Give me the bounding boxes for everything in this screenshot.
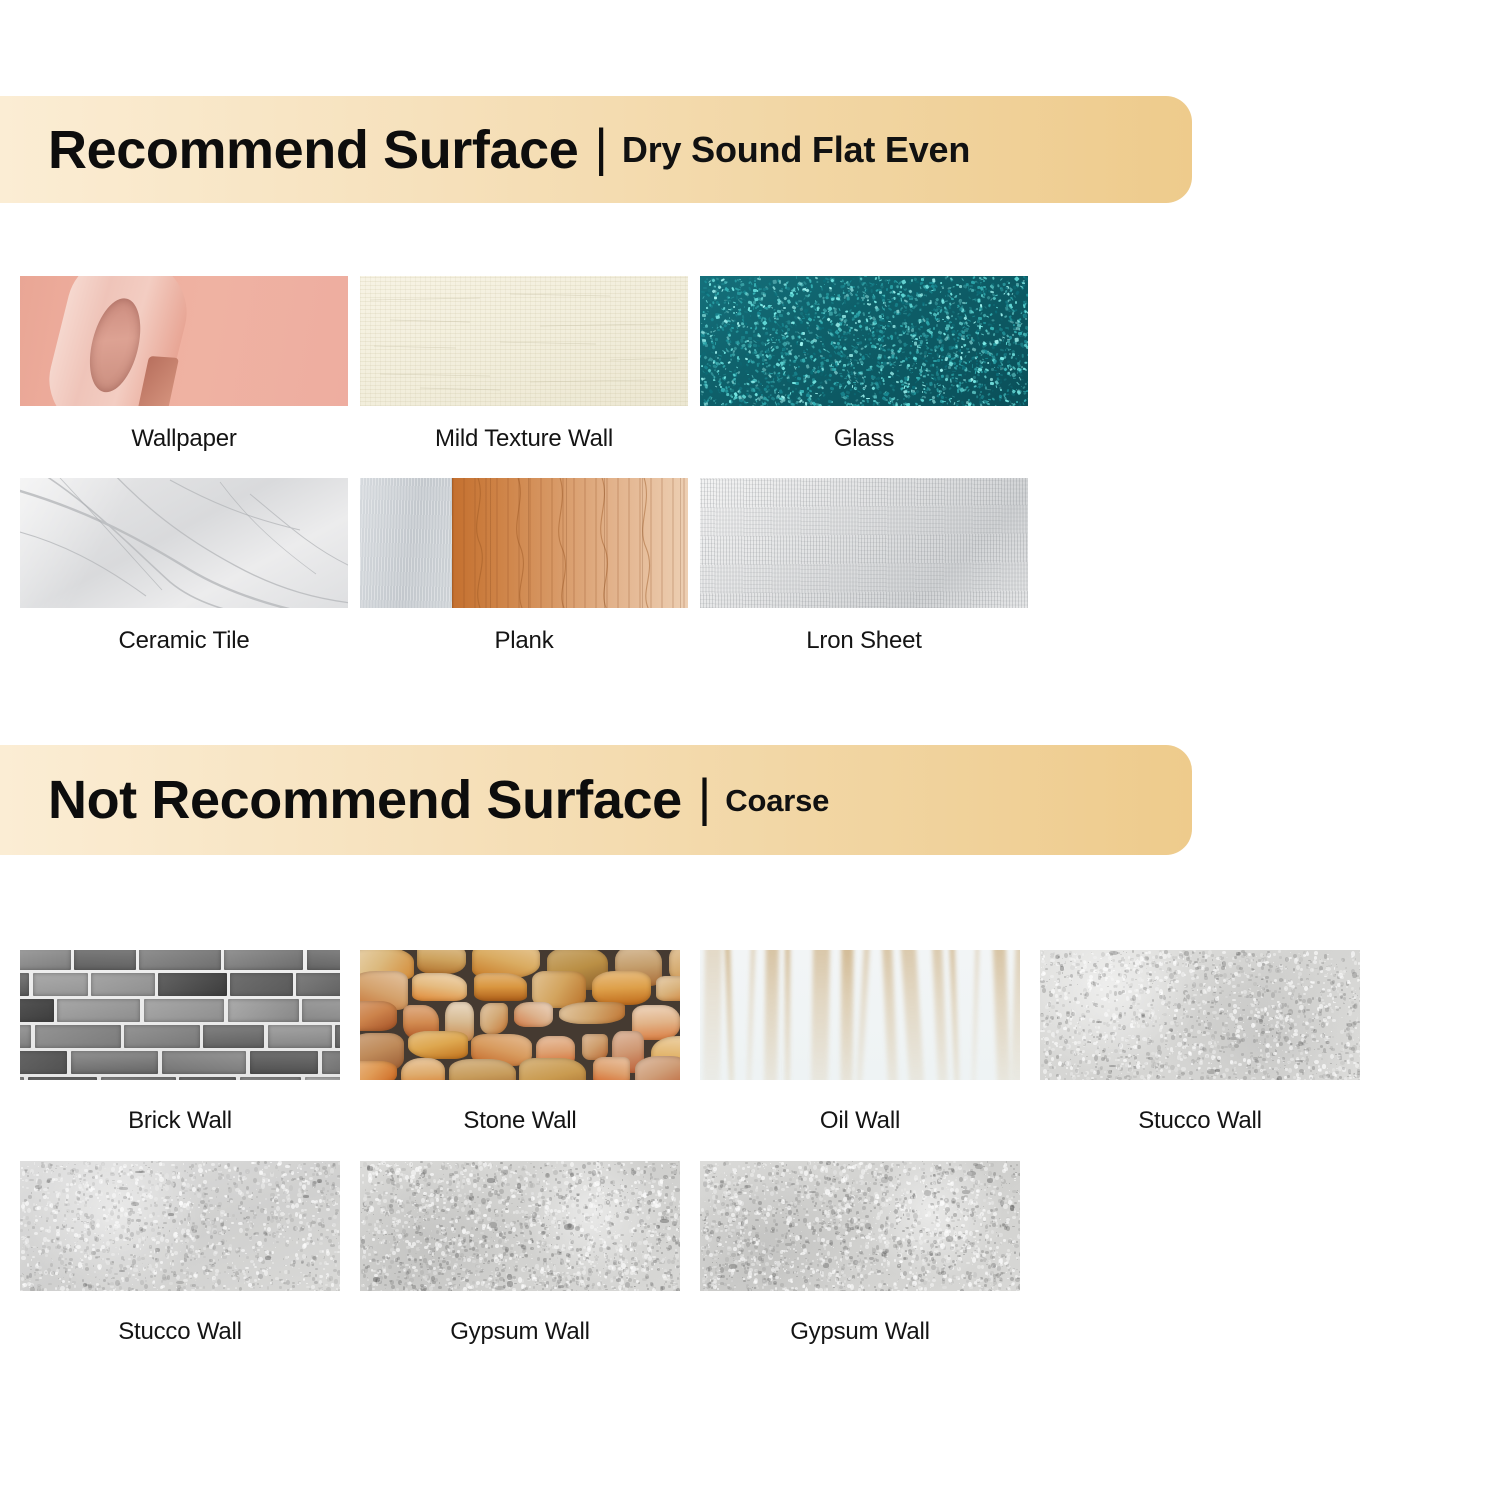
swatch-label-stone-wall: Stone Wall: [360, 1107, 680, 1135]
swatch-label-wallpaper: Wallpaper: [20, 425, 348, 453]
swatch-label-oil-wall: Oil Wall: [700, 1107, 1020, 1135]
recommend-row-1: Wallpaper Mild Texture Wall Glass: [20, 276, 1040, 453]
recommend-banner-subtitle: Dry Sound Flat Even: [622, 132, 970, 168]
recommend-row-2: Ceramic Tile Plank: [20, 478, 1040, 655]
swatch-label-iron-sheet: Lron Sheet: [700, 627, 1028, 655]
wallpaper-roll-graphic: [38, 276, 199, 406]
brick-wall-swatch: [20, 950, 340, 1080]
swatch-cell-wallpaper: Wallpaper: [20, 276, 348, 453]
recommend-banner-title: Recommend Surface: [48, 123, 578, 177]
oil-wall-swatch: [700, 950, 1020, 1080]
swatch-label-mild-texture-wall: Mild Texture Wall: [360, 425, 688, 453]
stone-blocks: [360, 950, 680, 1080]
swatch-label-stucco-wall-1: Stucco Wall: [1040, 1107, 1360, 1135]
swatch-cell-brick-wall: Brick Wall: [20, 950, 340, 1135]
stone-wall-swatch: [360, 950, 680, 1080]
mild-texture-wall-swatch: [360, 276, 688, 406]
swatch-label-gypsum-wall-2: Gypsum Wall: [700, 1318, 1020, 1346]
oil-streaks: [700, 950, 1020, 1080]
gypsum-wall-swatch: [700, 1161, 1020, 1291]
stucco-grain: [1040, 950, 1360, 1080]
swatch-cell-mild-texture-wall: Mild Texture Wall: [360, 276, 688, 453]
plank-wood-panel: [452, 478, 688, 608]
plank-swatch: [360, 478, 688, 608]
swatch-label-glass: Glass: [700, 425, 1028, 453]
swatch-cell-gypsum-wall-1: Gypsum Wall: [360, 1161, 680, 1346]
recommend-banner-separator: |: [594, 122, 608, 174]
gypsum-grain: [360, 1161, 680, 1291]
swatch-cell-stone-wall: Stone Wall: [360, 950, 680, 1135]
recommend-surface-banner: Recommend Surface | Dry Sound Flat Even: [0, 96, 1192, 203]
stucco-wall-swatch: [20, 1161, 340, 1291]
swatch-cell-oil-wall: Oil Wall: [700, 950, 1020, 1135]
swatch-label-brick-wall: Brick Wall: [20, 1107, 340, 1135]
glass-glitter-grain: [700, 276, 1028, 406]
not-recommend-banner-subtitle: Coarse: [725, 785, 829, 816]
swatch-cell-iron-sheet: Lron Sheet: [700, 478, 1028, 655]
swatch-cell-gypsum-wall-2: Gypsum Wall: [700, 1161, 1020, 1346]
swatch-cell-plank: Plank: [360, 478, 688, 655]
infographic-page: Recommend Surface | Dry Sound Flat Even …: [0, 0, 1500, 1500]
not-recommend-row-2: Stucco Wall Gypsum Wall Gypsum Wall: [20, 1161, 1040, 1346]
plank-grey-strip: [360, 478, 452, 608]
swatch-cell-stucco-wall-2: Stucco Wall: [20, 1161, 340, 1346]
swatch-label-gypsum-wall-1: Gypsum Wall: [360, 1318, 680, 1346]
not-recommend-row-1: Brick Wall Stone Wall Oil Wall Stucco Wa…: [20, 950, 1380, 1135]
not-recommend-banner-title: Not Recommend Surface: [48, 773, 682, 827]
ceramic-tile-swatch: [20, 478, 348, 608]
swatch-cell-ceramic-tile: Ceramic Tile: [20, 478, 348, 655]
not-recommend-banner-separator: |: [698, 772, 712, 824]
swatch-label-ceramic-tile: Ceramic Tile: [20, 627, 348, 655]
swatch-cell-glass: Glass: [700, 276, 1028, 453]
gypsum-wall-swatch: [360, 1161, 680, 1291]
glass-swatch: [700, 276, 1028, 406]
stucco-grain: [20, 1161, 340, 1291]
brick-courses: [20, 950, 340, 1080]
iron-sheet-swatch: [700, 478, 1028, 608]
swatch-label-stucco-wall-2: Stucco Wall: [20, 1318, 340, 1346]
swatch-cell-stucco-wall-1: Stucco Wall: [1040, 950, 1360, 1135]
not-recommend-surface-banner: Not Recommend Surface | Coarse: [0, 745, 1192, 855]
gypsum-grain: [700, 1161, 1020, 1291]
stucco-wall-swatch: [1040, 950, 1360, 1080]
wallpaper-swatch: [20, 276, 348, 406]
swatch-label-plank: Plank: [360, 627, 688, 655]
